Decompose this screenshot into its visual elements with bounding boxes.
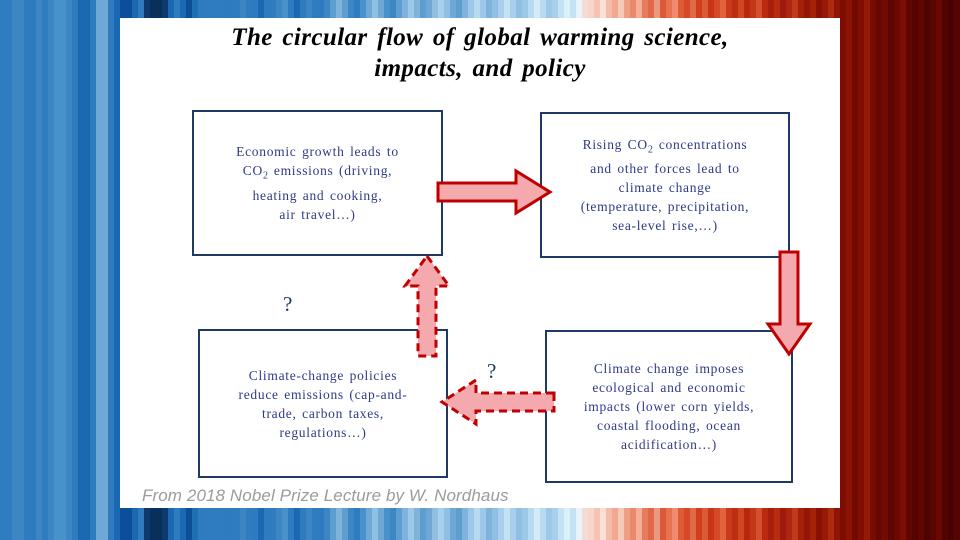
rising-co2-line-1b: concentrations — [653, 137, 747, 152]
rising-co2-box[interactable]: Rising CO2 concentrations and other forc… — [540, 112, 790, 258]
warming-stripe-159 — [954, 0, 960, 540]
rising-co2-line-2: and other forces lead to — [590, 161, 740, 176]
slide-canvas: The circular flow of global warming scie… — [0, 0, 960, 540]
rising-co2-line-3: climate change — [619, 180, 712, 195]
page-title-line-2: impacts, and policy — [374, 55, 586, 82]
rising-co2-line-4: (temperature, precipitation, — [581, 199, 749, 214]
question-mark-bottom: ? — [487, 361, 496, 382]
economic-growth-line-3: heating and cooking, — [253, 188, 383, 203]
climate-policies-line-3: trade, carbon taxes, — [262, 406, 384, 421]
rising-co2-line-1a: Rising CO — [583, 137, 648, 152]
economic-growth-line-1: Economic growth leads to — [236, 144, 399, 159]
source-caption: From 2018 Nobel Prize Lecture by W. Nord… — [142, 486, 509, 506]
page-title-line-1: The circular flow of global warming scie… — [231, 24, 728, 51]
content-panel: The circular flow of global warming scie… — [120, 18, 840, 508]
arrow-up-dashed-icon — [401, 254, 453, 358]
page-title: The circular flow of global warming scie… — [180, 22, 780, 84]
economic-growth-line-2b: emissions (driving, — [268, 163, 392, 178]
arrow-left-dashed-icon — [440, 376, 556, 428]
climate-impacts-line-1: Climate change imposes — [594, 361, 744, 376]
climate-policies-line-1: Climate-change policies — [249, 368, 397, 383]
climate-impacts-box[interactable]: Climate change imposes ecological and ec… — [545, 330, 793, 483]
climate-impacts-line-5: acidification…) — [621, 437, 717, 452]
economic-growth-line-2a: CO — [243, 163, 263, 178]
climate-policies-line-4: regulations…) — [279, 425, 366, 440]
climate-impacts-line-3: impacts (lower corn yields, — [584, 399, 754, 414]
climate-policies-line-2: reduce emissions (cap-and- — [239, 387, 408, 402]
climate-impacts-line-4: coastal flooding, ocean — [597, 418, 741, 433]
arrow-right-solid-icon — [436, 168, 552, 216]
economic-growth-line-4: air travel…) — [279, 207, 355, 222]
question-mark-left: ? — [283, 294, 292, 315]
climate-impacts-line-2: ecological and economic — [592, 380, 745, 395]
rising-co2-line-5: sea-level rise,…) — [612, 218, 718, 233]
economic-growth-box[interactable]: Economic growth leads to CO2 emissions (… — [192, 110, 443, 256]
arrow-down-solid-icon — [761, 250, 817, 356]
